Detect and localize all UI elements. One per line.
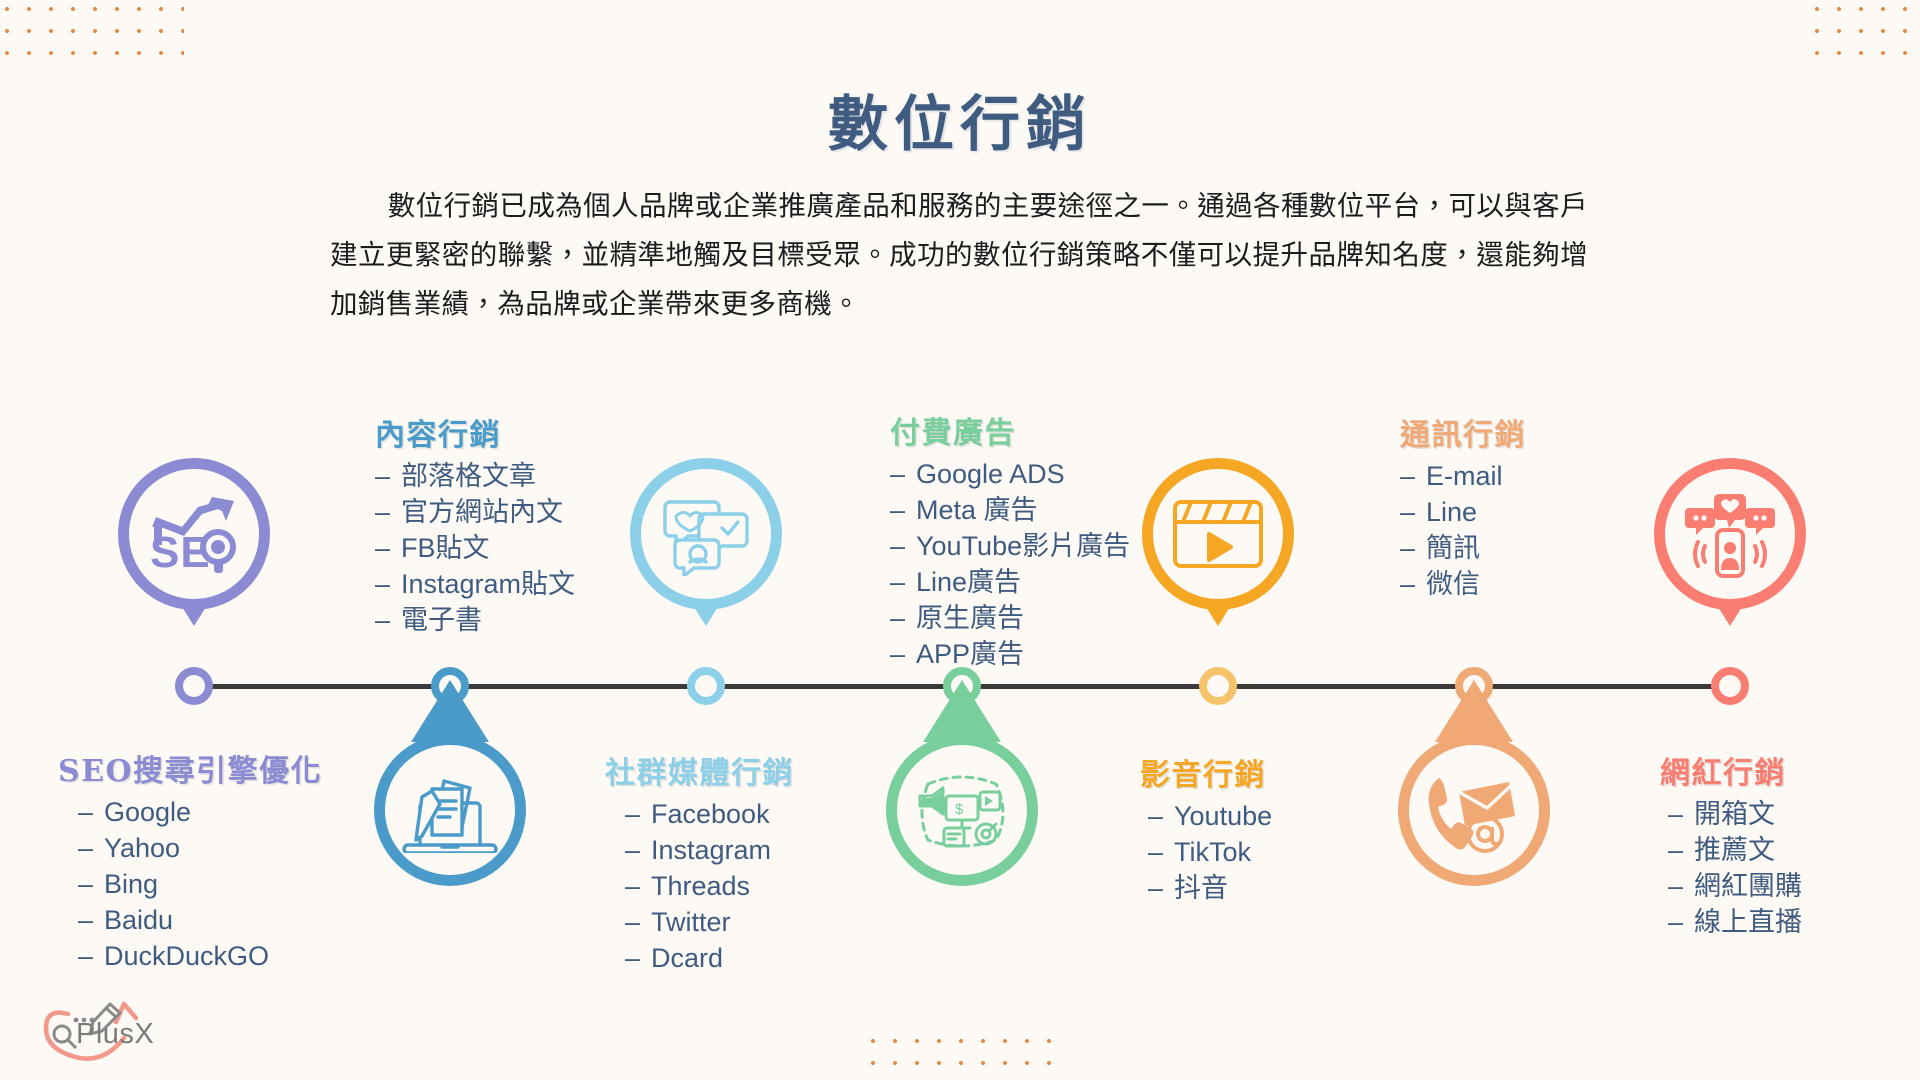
ads-megaphone-screen-icon: $ (886, 734, 1038, 886)
list-item: 部落格文章 (375, 458, 575, 494)
dot-pattern-top-left (0, 0, 184, 60)
list-item: 開箱文 (1668, 796, 1802, 832)
section-content: 內容行銷 部落格文章 官方網站內文 FB貼文 Instagram貼文 電子書 (375, 410, 575, 638)
logo-wordmark: PlusX (76, 1018, 154, 1051)
list-item: DuckDuckGO (78, 938, 322, 974)
section-messaging: 通訊行銷 E-mail Line 簡訊 微信 (1400, 410, 1526, 602)
list-item: TikTok (1148, 834, 1272, 870)
list-item: Dcard (625, 940, 794, 976)
pin-content[interactable] (374, 718, 526, 886)
list-item: 微信 (1400, 566, 1526, 602)
pin-influencer[interactable] (1654, 458, 1806, 626)
list-item: Bing (78, 866, 322, 902)
timeline-node-influencer[interactable] (1711, 667, 1749, 705)
svg-text:$: $ (955, 801, 964, 818)
infographic-canvas: 數位行銷 數位行銷已成為個人品牌或企業推廣產品和服務的主要途徑之一。通過各種數位… (0, 0, 1920, 1080)
timeline-node-social[interactable] (687, 667, 725, 705)
seo-chart-magnifier-icon: SE (118, 458, 270, 610)
list-item: Google (78, 794, 322, 830)
section-list-paid: Google ADS Meta 廣告 YouTube影片廣告 Line廣告 原生… (890, 456, 1130, 672)
list-item: Youtube (1148, 798, 1272, 834)
list-item: 簡訊 (1400, 530, 1526, 566)
page-title: 數位行銷 (0, 76, 1920, 163)
list-item: 網紅團購 (1668, 868, 1802, 904)
timeline-node-seo[interactable] (175, 667, 213, 705)
section-seo: SEO搜尋引擎優化 Google Yahoo Bing Baidu DuckDu… (58, 746, 322, 974)
pin-tail (411, 680, 489, 742)
section-title-social: 社群媒體行銷 (605, 748, 794, 792)
search-icon (54, 1026, 76, 1048)
section-title-seo: SEO搜尋引擎優化 (58, 746, 322, 790)
phone-envelope-at-icon (1398, 734, 1550, 886)
section-list-seo: Google Yahoo Bing Baidu DuckDuckGO (58, 794, 322, 974)
intro-paragraph: 數位行銷已成為個人品牌或企業推廣產品和服務的主要途徑之一。通過各種數位平台，可以… (330, 182, 1588, 329)
list-item: Yahoo (78, 830, 322, 866)
list-item: Line (1400, 494, 1526, 530)
section-list-messaging: E-mail Line 簡訊 微信 (1400, 458, 1526, 602)
list-item: 電子書 (375, 602, 575, 638)
section-social: 社群媒體行銷 Facebook Instagram Threads Twitte… (605, 748, 794, 976)
pin-tail (923, 680, 1001, 742)
section-list-content: 部落格文章 官方網站內文 FB貼文 Instagram貼文 電子書 (375, 458, 575, 638)
section-list-video: Youtube TikTok 抖音 (1140, 798, 1272, 906)
list-item: APP廣告 (890, 636, 1130, 672)
list-item: 官方網站內文 (375, 494, 575, 530)
plusx-logo[interactable]: PlusX (24, 996, 184, 1072)
smartphone-heart-chat-icon (1654, 458, 1806, 610)
list-item: YouTube影片廣告 (890, 528, 1130, 564)
dot-pattern-top-right (1806, 0, 1920, 60)
section-video: 影音行銷 Youtube TikTok 抖音 (1140, 750, 1272, 906)
list-item: Facebook (625, 796, 794, 832)
list-item: FB貼文 (375, 530, 575, 566)
pin-video[interactable] (1142, 458, 1294, 626)
list-item: 原生廣告 (890, 600, 1130, 636)
list-item: Instagram貼文 (375, 566, 575, 602)
list-item: 推薦文 (1668, 832, 1802, 868)
list-item: E-mail (1400, 458, 1526, 494)
pin-paid[interactable]: $ (886, 718, 1038, 886)
section-title-influencer: 網紅行銷 (1660, 748, 1802, 792)
list-item: Twitter (625, 904, 794, 940)
list-item: Line廣告 (890, 564, 1130, 600)
section-list-social: Facebook Instagram Threads Twitter Dcard (605, 796, 794, 976)
list-item: 抖音 (1148, 870, 1272, 906)
list-item: Meta 廣告 (890, 492, 1130, 528)
list-item: Baidu (78, 902, 322, 938)
pin-social[interactable] (630, 458, 782, 626)
pin-messaging[interactable] (1398, 718, 1550, 886)
section-paid: 付費廣告 Google ADS Meta 廣告 YouTube影片廣告 Line… (890, 408, 1130, 672)
chat-bubbles-icon (630, 458, 782, 610)
section-title-video: 影音行銷 (1140, 750, 1272, 794)
laptop-document-pencil-icon (374, 734, 526, 886)
list-item: Instagram (625, 832, 794, 868)
list-item: Google ADS (890, 456, 1130, 492)
pin-tail (1435, 680, 1513, 742)
timeline-node-video[interactable] (1199, 667, 1237, 705)
video-play-clapper-icon (1142, 458, 1294, 610)
dot-pattern-bottom-center (862, 1030, 1052, 1072)
section-title-paid: 付費廣告 (890, 408, 1130, 452)
pin-seo[interactable]: SE (118, 458, 270, 626)
section-list-influencer: 開箱文 推薦文 網紅團購 線上直播 (1660, 796, 1802, 940)
section-influencer: 網紅行銷 開箱文 推薦文 網紅團購 線上直播 (1660, 748, 1802, 940)
section-title-content: 內容行銷 (375, 410, 575, 454)
list-item: 線上直播 (1668, 904, 1802, 940)
section-title-messaging: 通訊行銷 (1400, 410, 1526, 454)
list-item: Threads (625, 868, 794, 904)
